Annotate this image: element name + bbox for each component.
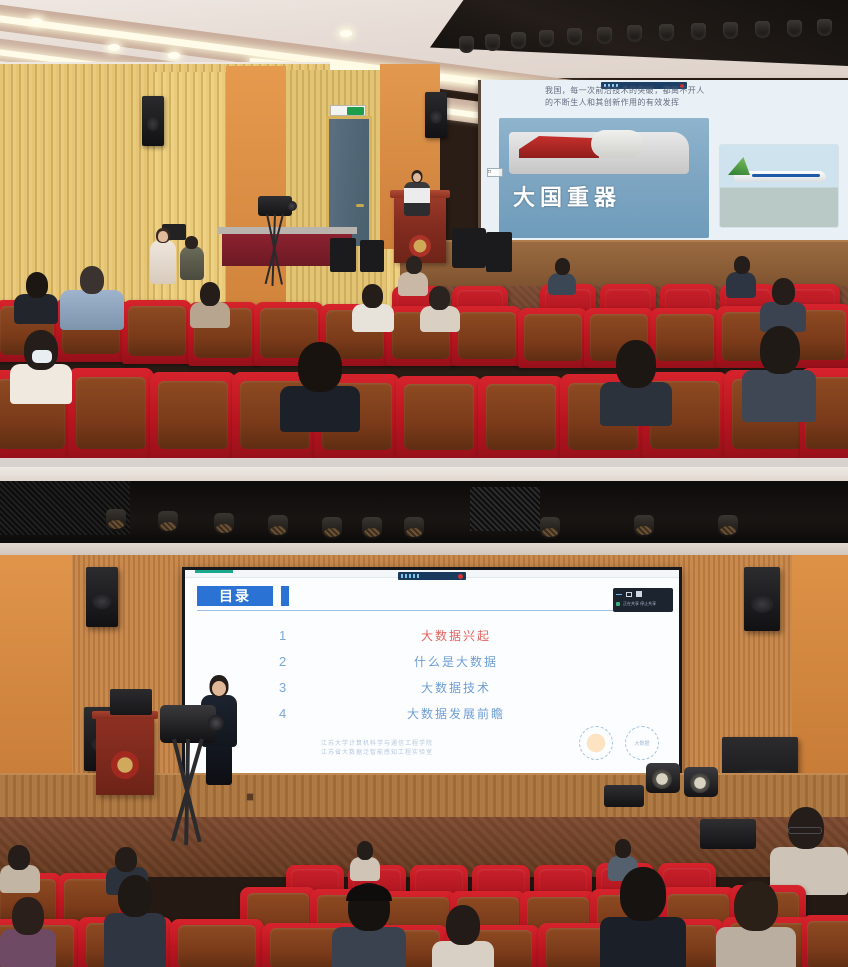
top-photo-panel: 我国，每一次前沿技术的突破，都离不开人 的不断生人和其创新作用的有效发挥 大国重… [0, 0, 848, 458]
audience-person [420, 286, 460, 328]
slide-footer-line-1: 江苏大学计算机科学与通信工程学院 [185, 740, 569, 749]
bottom-photo-panel: 目录 1 大数据兴起 2 什么是大数据 3 大数据技术 [0, 467, 848, 967]
downlight-icon [108, 44, 120, 51]
toc-item[interactable]: 4 大数据发展前瞻 [185, 700, 679, 726]
ceiling-mesh-grid [470, 487, 540, 531]
camera-tripod [252, 196, 298, 286]
toc-label: 大数据技术 [185, 679, 679, 696]
screen-share-toolbar[interactable]: 正在共享 停止共享 [613, 588, 673, 612]
toc-item[interactable]: 3 大数据技术 [185, 674, 679, 700]
audience-person [548, 258, 576, 294]
folding-chair [360, 240, 384, 272]
stage-light [322, 517, 342, 539]
exit-sign [330, 105, 366, 116]
audience-person [14, 272, 58, 320]
university-emblem-icon [409, 235, 431, 257]
stage-light [634, 515, 654, 537]
av-equipment-case [700, 819, 756, 849]
university-logo-icon [579, 726, 613, 760]
toc-label: 什么是大数据 [185, 653, 679, 670]
audience-person-masked [10, 330, 72, 400]
toc-label: 大数据兴起 [185, 627, 679, 644]
audience-person-cap [332, 883, 406, 967]
stage-light [158, 511, 178, 533]
video-camera-icon [258, 196, 292, 216]
minimize-icon[interactable] [616, 594, 622, 595]
stage-light [540, 517, 560, 539]
stage-light [106, 509, 126, 531]
slide-image-aircraft [719, 144, 839, 228]
audience-person [600, 867, 686, 967]
moving-head-light [646, 763, 680, 793]
lighting-truss [455, 14, 848, 62]
standing-person [180, 236, 204, 280]
camera-tripod [152, 705, 222, 845]
green-tab-marker [195, 570, 233, 573]
audience-person [104, 875, 166, 967]
audience-person [350, 841, 380, 879]
ship-overlay-text: 大国重器 [513, 180, 621, 212]
window-control-badge[interactable]: □ [487, 168, 503, 177]
panel-divider [0, 458, 848, 467]
audience-person [0, 845, 40, 891]
stage-floor-outlet [246, 793, 254, 801]
downlight-icon [340, 30, 352, 37]
audience-person [280, 342, 360, 428]
sharing-status-icon [616, 602, 620, 606]
stage-light [404, 517, 424, 539]
slide-toc-list: 1 大数据兴起 2 什么是大数据 3 大数据技术 4 大数据发展前瞻 [185, 622, 679, 726]
wall-speaker [744, 567, 780, 631]
toc-item[interactable]: 1 大数据兴起 [185, 622, 679, 648]
av-equipment-case [452, 228, 486, 268]
audience-person [726, 256, 756, 296]
stage-light [718, 515, 738, 537]
audience-person [760, 278, 806, 328]
restore-icon[interactable] [626, 592, 632, 597]
folding-chair [330, 238, 356, 272]
slide-heading-accent [281, 586, 289, 606]
standing-person [150, 228, 176, 284]
wall-speaker [425, 92, 447, 138]
slide-image-ship: 大国重器 [499, 118, 709, 238]
av-equipment-case [486, 232, 512, 272]
photo-collage: 我国，每一次前沿技术的突破，都离不开人 的不断生人和其创新作用的有效发挥 大国重… [0, 0, 848, 967]
presenter-figure [400, 170, 434, 216]
sharing-status-text: 正在共享 停止共享 [623, 601, 656, 607]
wall-speaker [142, 96, 164, 146]
slide-headline: 我国，每一次前沿技术的突破，都离不开人 的不断生人和其创新作用的有效发挥 [545, 85, 845, 109]
wall-speaker [86, 567, 118, 627]
slide-heading-rule [197, 610, 671, 611]
slide-heading-band: 目录 [197, 586, 273, 606]
audience-person [432, 905, 494, 967]
toc-item[interactable]: 2 什么是大数据 [185, 648, 679, 674]
orange-wall-panel [0, 555, 72, 785]
downlight-icon [168, 52, 180, 59]
video-camera-icon [160, 705, 216, 743]
audience-person [742, 326, 816, 422]
lab-logo-icon: 大数据 [625, 726, 659, 760]
meeting-share-banner[interactable] [398, 572, 466, 580]
exit-sign-icon [347, 107, 364, 115]
podium [96, 717, 154, 795]
slide-heading-text: 目录 [219, 586, 251, 606]
audience-person [600, 340, 672, 422]
audience-person [716, 881, 796, 967]
university-emblem-icon [111, 751, 139, 779]
projection-screen: 目录 1 大数据兴起 2 什么是大数据 3 大数据技术 [182, 567, 682, 783]
slide-footer-line-2: 江苏省大数据泛智能感知工程实验室 [185, 749, 569, 758]
downlight-icon [30, 18, 42, 25]
laptop [110, 689, 152, 715]
door-handle-icon [356, 204, 364, 207]
toc-label: 大数据发展前瞻 [185, 705, 679, 722]
close-icon[interactable] [636, 591, 642, 597]
av-equipment-case [604, 785, 644, 807]
stage-light [268, 515, 288, 537]
audience-person [0, 897, 56, 967]
audience-person [352, 284, 394, 328]
stage-light [214, 513, 234, 535]
orange-wall-panel [792, 555, 848, 785]
audience-person [190, 282, 230, 324]
moving-head-light [684, 767, 718, 797]
stage-light [362, 517, 382, 539]
audience-person-blue-coat [60, 266, 124, 326]
